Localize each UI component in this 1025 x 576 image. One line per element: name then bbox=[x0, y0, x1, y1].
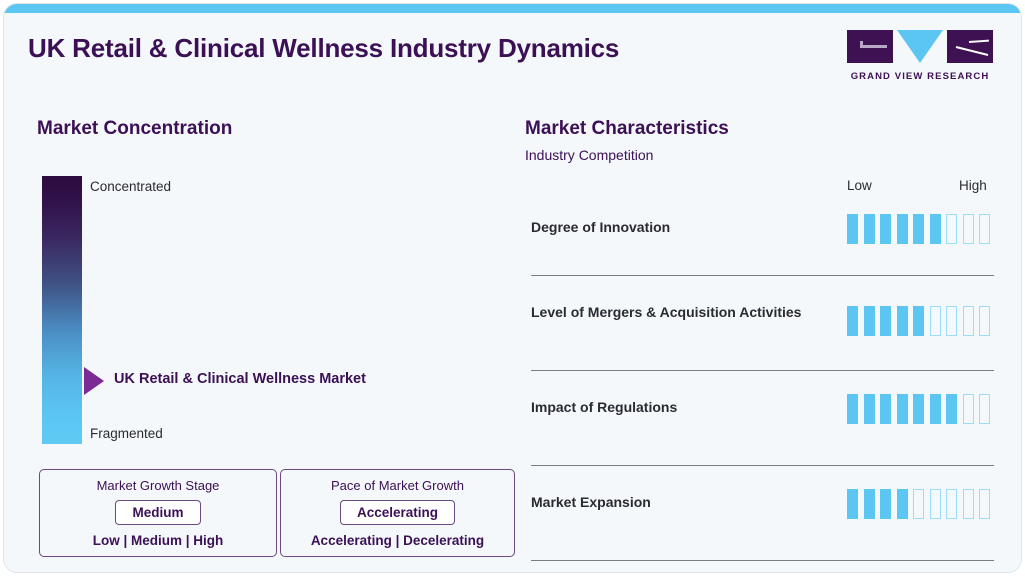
rating-segment-filled bbox=[913, 306, 924, 336]
rating-segment-empty bbox=[979, 394, 990, 424]
rating-segment-filled bbox=[864, 214, 875, 244]
market-growth-stage-value: Medium bbox=[115, 500, 200, 525]
rating-segment-empty bbox=[930, 306, 941, 336]
pace-of-market-growth-card: Pace of Market Growth Accelerating Accel… bbox=[280, 469, 515, 557]
rating-segment-filled bbox=[847, 394, 858, 424]
characteristic-label: Impact of Regulations bbox=[531, 399, 831, 417]
scale-low-label: Low bbox=[847, 178, 872, 193]
concentration-bottom-label: Fragmented bbox=[90, 426, 163, 441]
market-growth-stage-scale: Low | Medium | High bbox=[40, 533, 276, 548]
rating-segment-filled bbox=[880, 306, 891, 336]
concentration-gradient-scale bbox=[42, 176, 82, 444]
pace-of-market-growth-value: Accelerating bbox=[340, 500, 455, 525]
scale-high-label: High bbox=[959, 178, 987, 193]
market-characteristics-subtitle: Industry Competition bbox=[525, 147, 653, 163]
logo-wordmark: GRAND VIEW RESEARCH bbox=[847, 71, 993, 82]
rating-segment-filled bbox=[864, 306, 875, 336]
market-position-arrow-icon bbox=[84, 367, 104, 395]
rating-segment-filled bbox=[946, 394, 957, 424]
rating-segment-empty bbox=[963, 214, 974, 244]
market-concentration-title: Market Concentration bbox=[37, 118, 232, 140]
rating-segment-filled bbox=[847, 489, 858, 519]
rating-segment-filled bbox=[847, 214, 858, 244]
rating-segment-filled bbox=[880, 214, 891, 244]
rating-segment-filled bbox=[913, 394, 924, 424]
rating-segment-empty bbox=[963, 489, 974, 519]
characteristic-rating-bars bbox=[847, 214, 990, 244]
market-position-label: UK Retail & Clinical Wellness Market bbox=[114, 371, 366, 387]
rating-segment-filled bbox=[880, 489, 891, 519]
characteristic-row: Level of Mergers & Acquisition Activitie… bbox=[525, 294, 995, 389]
market-growth-stage-heading: Market Growth Stage bbox=[40, 478, 276, 493]
rating-segment-empty bbox=[963, 306, 974, 336]
market-growth-stage-card: Market Growth Stage Medium Low | Medium … bbox=[39, 469, 277, 557]
rating-segment-filled bbox=[897, 489, 908, 519]
row-divider bbox=[531, 465, 994, 466]
concentration-top-label: Concentrated bbox=[90, 179, 171, 194]
characteristic-label: Degree of Innovation bbox=[531, 219, 831, 237]
characteristic-label: Level of Mergers & Acquisition Activitie… bbox=[531, 304, 831, 322]
rating-segment-empty bbox=[930, 489, 941, 519]
rating-segment-filled bbox=[847, 306, 858, 336]
rating-segment-filled bbox=[897, 394, 908, 424]
rating-segment-filled bbox=[897, 214, 908, 244]
logo-v-triangle-icon bbox=[897, 30, 943, 63]
characteristic-rating-bars bbox=[847, 489, 990, 519]
row-divider bbox=[531, 370, 994, 371]
logo-marks bbox=[847, 30, 993, 66]
characteristic-row: Degree of Innovation bbox=[525, 209, 995, 304]
rating-segment-empty bbox=[913, 489, 924, 519]
rating-segment-empty bbox=[979, 214, 990, 244]
infographic-frame: UK Retail & Clinical Wellness Industry D… bbox=[3, 3, 1022, 573]
rating-segment-filled bbox=[864, 394, 875, 424]
characteristic-label: Market Expansion bbox=[531, 494, 831, 512]
row-divider bbox=[531, 560, 994, 561]
grand-view-research-logo: GRAND VIEW RESEARCH bbox=[847, 30, 993, 82]
rating-segment-filled bbox=[864, 489, 875, 519]
page-title: UK Retail & Clinical Wellness Industry D… bbox=[28, 33, 619, 64]
rating-segment-empty bbox=[946, 306, 957, 336]
rating-segment-empty bbox=[979, 489, 990, 519]
logo-r-icon bbox=[947, 30, 993, 63]
rating-segment-filled bbox=[930, 394, 941, 424]
rating-segment-empty bbox=[946, 489, 957, 519]
characteristic-rating-bars bbox=[847, 306, 990, 336]
row-divider bbox=[531, 275, 994, 276]
rating-segment-empty bbox=[963, 394, 974, 424]
logo-g-icon bbox=[847, 30, 893, 63]
market-characteristics-title: Market Characteristics bbox=[525, 118, 729, 140]
rating-segment-filled bbox=[913, 214, 924, 244]
rating-segment-filled bbox=[897, 306, 908, 336]
rating-segment-empty bbox=[946, 214, 957, 244]
rating-segment-filled bbox=[880, 394, 891, 424]
rating-segment-filled bbox=[930, 214, 941, 244]
characteristic-row: Impact of Regulations bbox=[525, 389, 995, 484]
characteristic-rating-bars bbox=[847, 394, 990, 424]
header: UK Retail & Clinical Wellness Industry D… bbox=[4, 13, 1021, 95]
rating-segment-empty bbox=[979, 306, 990, 336]
top-accent-bar bbox=[4, 4, 1021, 13]
pace-of-market-growth-scale: Accelerating | Decelerating bbox=[281, 533, 514, 548]
pace-of-market-growth-heading: Pace of Market Growth bbox=[281, 478, 514, 493]
